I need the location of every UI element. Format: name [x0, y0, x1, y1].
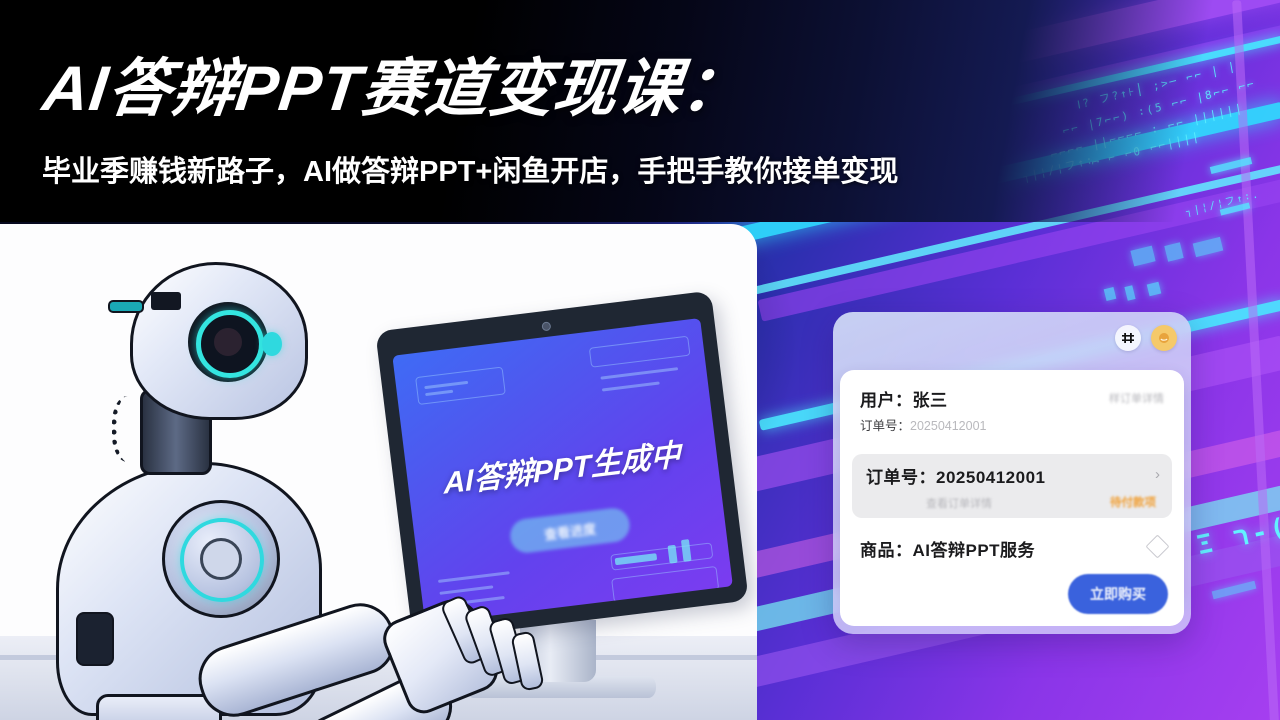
- header-band: AI答辩PPT赛道变现课： 毕业季赚钱新路子，AI做答辩PPT+闲鱼开店，手把手…: [0, 0, 1280, 222]
- data-chip-8: [1147, 282, 1162, 297]
- order-number-value: 20250412001: [936, 468, 1046, 487]
- data-chip-5: [1193, 237, 1224, 257]
- ui-mock-line-5: [438, 571, 510, 583]
- ui-mock-line-6: [439, 585, 493, 595]
- status-badge: 待付款项: [1110, 494, 1156, 510]
- link-icon[interactable]: [1115, 325, 1141, 351]
- data-chip-3: [1130, 246, 1155, 267]
- card-action-icons: [1115, 325, 1177, 351]
- product-row: 商品：AI答辩PPT服务 查看详情: [840, 536, 1184, 561]
- ui-mock-bar-b: [681, 539, 692, 562]
- robot-cable-coil: [112, 396, 151, 462]
- screen-cta-button[interactable]: 查看进度: [508, 506, 631, 554]
- order-card[interactable]: 用户：张三 订单号：20250412001 样订单详情 订单号：20250412…: [833, 312, 1191, 634]
- illustration-panel: AI答辩PPT生成中 查看进度: [0, 224, 757, 720]
- order-number-line: 订单号：20250412001: [866, 463, 1158, 488]
- product-line: 商品：AI答辩PPT服务: [860, 536, 1164, 561]
- order-number-label: 订单号：: [866, 468, 936, 487]
- ui-mock-line-4: [602, 381, 660, 391]
- page-title: AI答辩PPT赛道变现课：: [38, 38, 752, 129]
- user-order-line: 订单号：20250412001: [860, 415, 1164, 434]
- product-label: 商品：: [860, 541, 913, 560]
- robot-eye-core: [211, 325, 245, 359]
- robot-antenna-icon: [108, 300, 144, 313]
- data-chip-7: [1124, 285, 1135, 301]
- page-subtitle: 毕业季赚钱新路子，AI做答辩PPT+闲鱼开店，手把手教你接单变现: [42, 148, 898, 190]
- avatar-icon[interactable]: [1151, 325, 1177, 351]
- ui-mock-box-topright: [589, 336, 691, 368]
- data-chip-9: [1212, 581, 1257, 599]
- user-row: 用户：张三 订单号：20250412001 样订单详情: [840, 386, 1184, 434]
- user-order-label: 订单号：: [860, 419, 910, 433]
- user-order-value: 20250412001: [910, 419, 986, 433]
- robot-brow-panel: [151, 292, 181, 310]
- ui-mock-line-3: [600, 367, 678, 379]
- robot-shoulder-core: [200, 538, 242, 580]
- user-value: 张三: [913, 391, 948, 410]
- robot-chest-panel: [76, 612, 114, 666]
- monitor: AI答辩PPT生成中 查看进度: [375, 291, 749, 642]
- chevron-right-icon[interactable]: ›: [1155, 466, 1160, 483]
- code-glyph-large: Ξ ﬧ-( ): [1194, 505, 1280, 562]
- buy-now-button[interactable]: 立即购买: [1068, 574, 1168, 614]
- user-row-ghost-text: 样订单详情: [1109, 390, 1164, 406]
- order-number-row[interactable]: 订单号：20250412001 查看订单详情 › 待付款项: [852, 454, 1172, 518]
- user-label: 用户：: [860, 391, 913, 410]
- card-footer: 立即购买: [840, 564, 1184, 626]
- data-chip-6: [1104, 287, 1117, 301]
- promo-banner-screenshot: Ⅰ? フ?↑⊦⎮ ;>─ ⌐⌐ ∣ ∣ ⌐⌐ ∣7⌐⌐) ∶(5 ⌐⌐ ∣8⌐⌐…: [0, 0, 1280, 720]
- product-value: AI答辩PPT服务: [913, 541, 1036, 560]
- data-chip-4: [1164, 242, 1183, 261]
- screen-headline: AI答辩PPT生成中: [408, 425, 716, 507]
- monitor-screen[interactable]: AI答辩PPT生成中 查看进度: [392, 318, 733, 624]
- robot-ear-light: [262, 332, 282, 356]
